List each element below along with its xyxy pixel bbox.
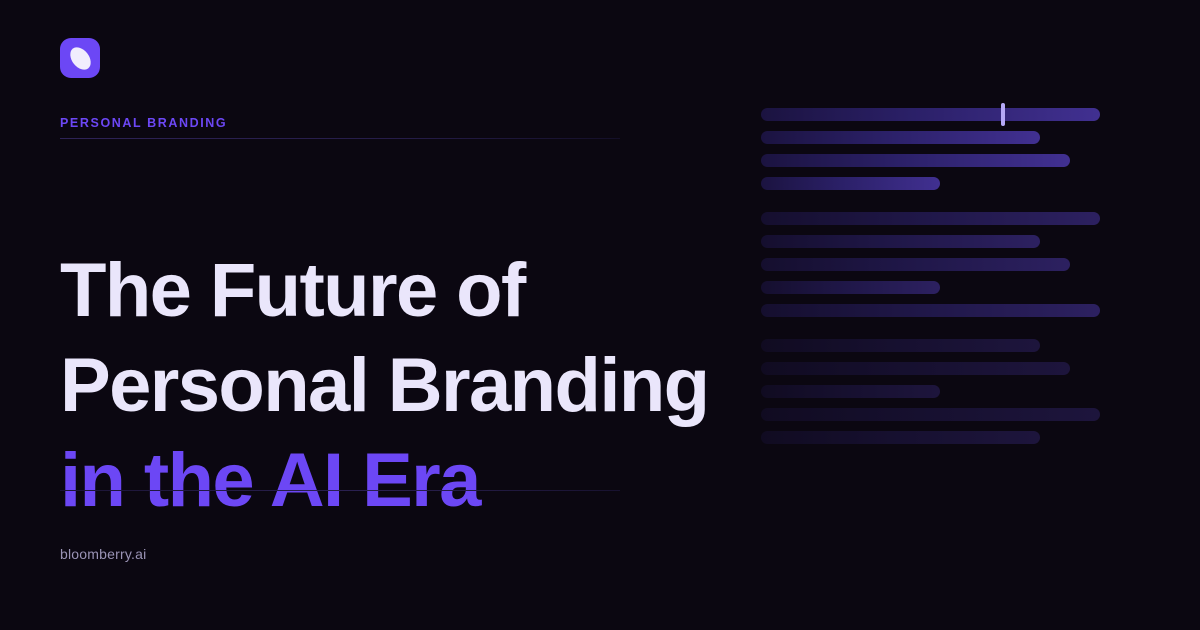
text-line-bar (761, 385, 940, 398)
og-card: PERSONAL BRANDING The Future of Personal… (0, 0, 1200, 630)
text-line-bar (761, 108, 1100, 121)
headline-line-3-accent: in the AI Era (60, 433, 700, 528)
headline-line-2: Personal Branding (60, 338, 700, 433)
divider-middle (60, 490, 620, 491)
text-line-bar (761, 212, 1100, 225)
text-line-bar (761, 431, 1040, 444)
text-lines-illustration (761, 108, 1101, 398)
text-line-bar (761, 362, 1070, 375)
headline-line-1: The Future of (60, 243, 700, 338)
page-title: The Future of Personal Branding in the A… (60, 243, 700, 528)
text-line-bar (761, 281, 940, 294)
text-line-bar (761, 339, 1040, 352)
text-cursor-caret (1001, 103, 1005, 126)
divider-top (60, 138, 620, 139)
text-line-bar (761, 154, 1070, 167)
text-line-bar (761, 258, 1070, 271)
text-line-bar (761, 408, 1100, 421)
text-line-bar (761, 177, 940, 190)
bloomberry-logo-icon (60, 38, 100, 78)
content-column: PERSONAL BRANDING The Future of Personal… (60, 0, 680, 630)
logo-petal-shape (66, 43, 95, 73)
text-line-bar (761, 131, 1040, 144)
category-eyebrow: PERSONAL BRANDING (60, 116, 227, 130)
text-line-bar (761, 304, 1100, 317)
text-line-bar (761, 235, 1040, 248)
site-name: bloomberry.ai (60, 546, 146, 562)
